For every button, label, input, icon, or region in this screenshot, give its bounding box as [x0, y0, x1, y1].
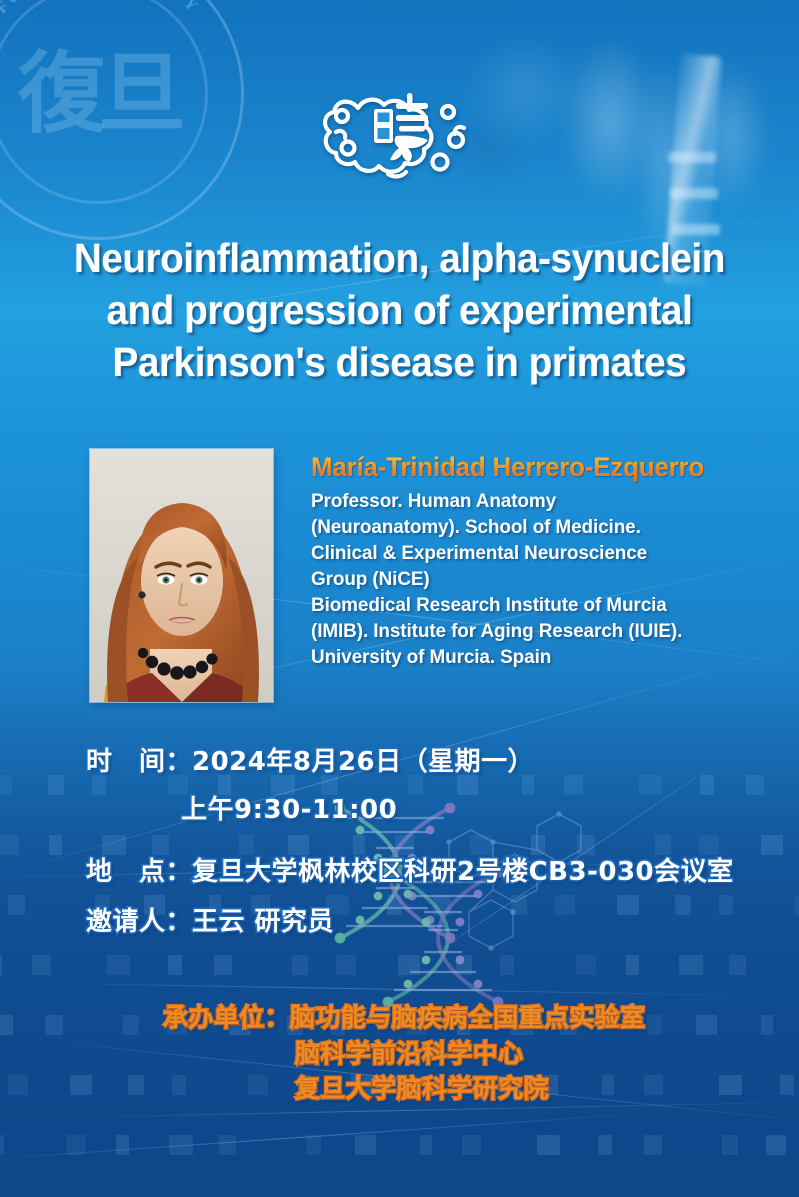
- poster-content: Neuroinflammation, alpha-synuclein and p…: [0, 0, 799, 1197]
- event-time-second-line: 上午9:30-11:00: [181, 789, 397, 826]
- title-line-1: Neuroinflammation, alpha-synuclein: [24, 232, 775, 284]
- title-line-2: and progression of experimental: [24, 284, 775, 336]
- affiliation-line-2: (Neuroanatomy). School of Medicine.: [311, 514, 718, 540]
- poster-title: Neuroinflammation, alpha-synuclein and p…: [24, 232, 775, 388]
- speaker-affiliation: Professor. Human Anatomy (Neuroanatomy).…: [311, 488, 718, 670]
- organizer-line-2: 脑科学前沿科学中心: [163, 1036, 646, 1072]
- affiliation-line-5: Biomedical Research Institute of Murcia: [311, 592, 718, 618]
- event-inviter-line: 邀请人：王云 研究员: [86, 901, 334, 938]
- organizers-block: 承办单位：脑功能与脑疾病全国重点实验室 脑科学前沿科学中心 复旦大学脑科学研究院: [163, 1000, 646, 1107]
- affiliation-line-7: University of Murcia. Spain: [311, 644, 718, 670]
- affiliation-line-4: Group (NiCE): [311, 566, 718, 592]
- brain-logo-icon: [322, 78, 480, 182]
- organizer-line-3: 复旦大学脑科学研究院: [163, 1071, 646, 1107]
- organizer-line-1: 承办单位：脑功能与脑疾病全国重点实验室: [163, 1000, 646, 1036]
- event-location-line: 地 点：复旦大学枫林校区科研2号楼CB3-030会议室: [86, 851, 734, 888]
- speaker-name: María-Trinidad Herrero-Ezquerro: [311, 452, 704, 483]
- title-line-3: Parkinson's disease in primates: [24, 336, 775, 388]
- affiliation-line-6: (IMIB). Institute for Aging Research (IU…: [311, 618, 718, 644]
- speaker-portrait: [90, 449, 273, 702]
- poster-canvas: FUDAN UNIVERSITY 復旦: [0, 0, 799, 1197]
- event-time-line: 时 间：2024年8月26日（星期一）: [86, 741, 534, 778]
- affiliation-line-1: Professor. Human Anatomy: [311, 488, 718, 514]
- affiliation-line-3: Clinical & Experimental Neuroscience: [311, 540, 718, 566]
